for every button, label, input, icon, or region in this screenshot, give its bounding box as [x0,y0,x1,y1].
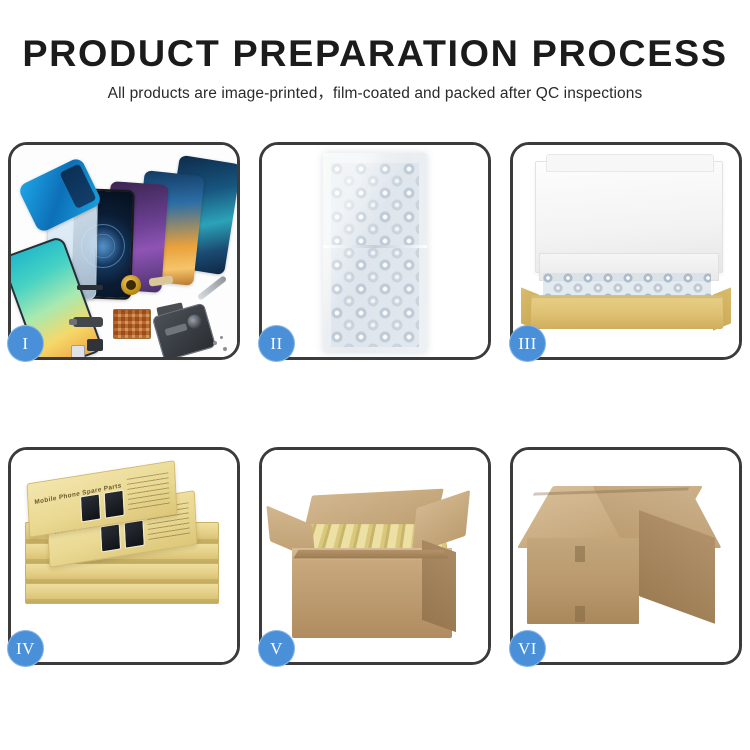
bag-sheen [323,153,427,353]
step-badge-4: IV [7,630,44,667]
product-preparation-infographic: PRODUCT PREPARATION PROCESS All products… [0,0,750,750]
spare-parts-group [69,273,233,355]
connector-chip-icon [113,309,151,339]
step-badge-1: I [7,325,44,362]
steps-grid: I II [8,142,742,683]
step-image-1 [11,145,237,357]
carton-flap-front [293,550,448,558]
open-carton-illustration [262,450,488,662]
step-badge-3: III [509,325,546,362]
box-screen-image-2 [124,520,145,549]
step-panel-3: III [510,142,742,360]
step-panel-1: I [8,142,240,360]
step-badge-5: V [258,630,295,667]
step-badge-6: VI [509,630,546,667]
bubble-wrap-illustration [262,145,488,357]
step-panel-5: V [259,447,491,665]
screw-2-icon [213,341,217,345]
tweezers-icon [197,275,227,301]
box-spec-text-lines-upper [127,472,170,511]
earpiece-part-icon [77,285,103,290]
step-panel-2: II [259,142,491,360]
inner-box-illustration [513,145,739,357]
box-front-panel [530,295,723,329]
step-panel-6: VI [510,447,742,665]
step-image-5 [262,450,488,662]
screw-1-icon [223,347,227,351]
step-image-4: Mobile Phone Spare Parts Mobile Phone Sp… [11,450,237,662]
step-badge-2: II [258,325,295,362]
step-image-2 [262,145,488,357]
flex-cable-1-icon [73,317,103,327]
box-screen-image-1 [100,523,121,552]
page-subtitle: All products are image-printed，film-coat… [0,74,750,103]
step-panel-4: Mobile Phone Spare Parts Mobile Phone Sp… [8,447,240,665]
box-screen-image-4 [104,490,125,519]
sim-tray-icon [71,345,85,357]
carton-tape-mark-top [575,546,585,562]
bubble-wrap-bag-icon [323,153,427,353]
coil-part-icon [121,275,141,295]
button-set-icon [149,275,174,286]
stacked-box-1 [25,582,219,604]
screw-3-icon [220,336,223,339]
step-image-3 [513,145,739,357]
stacked-boxes-illustration: Mobile Phone Spare Parts Mobile Phone Sp… [11,450,237,662]
carton-tape-mark-bottom [575,606,585,622]
header: PRODUCT PREPARATION PROCESS All products… [0,0,750,103]
page-title: PRODUCT PREPARATION PROCESS [0,0,750,74]
step-image-6 [513,450,739,662]
phones-and-parts-illustration [11,145,237,357]
sealed-carton-illustration [513,450,739,662]
box-screen-image-3 [80,493,101,522]
speaker-part-icon [87,339,103,351]
